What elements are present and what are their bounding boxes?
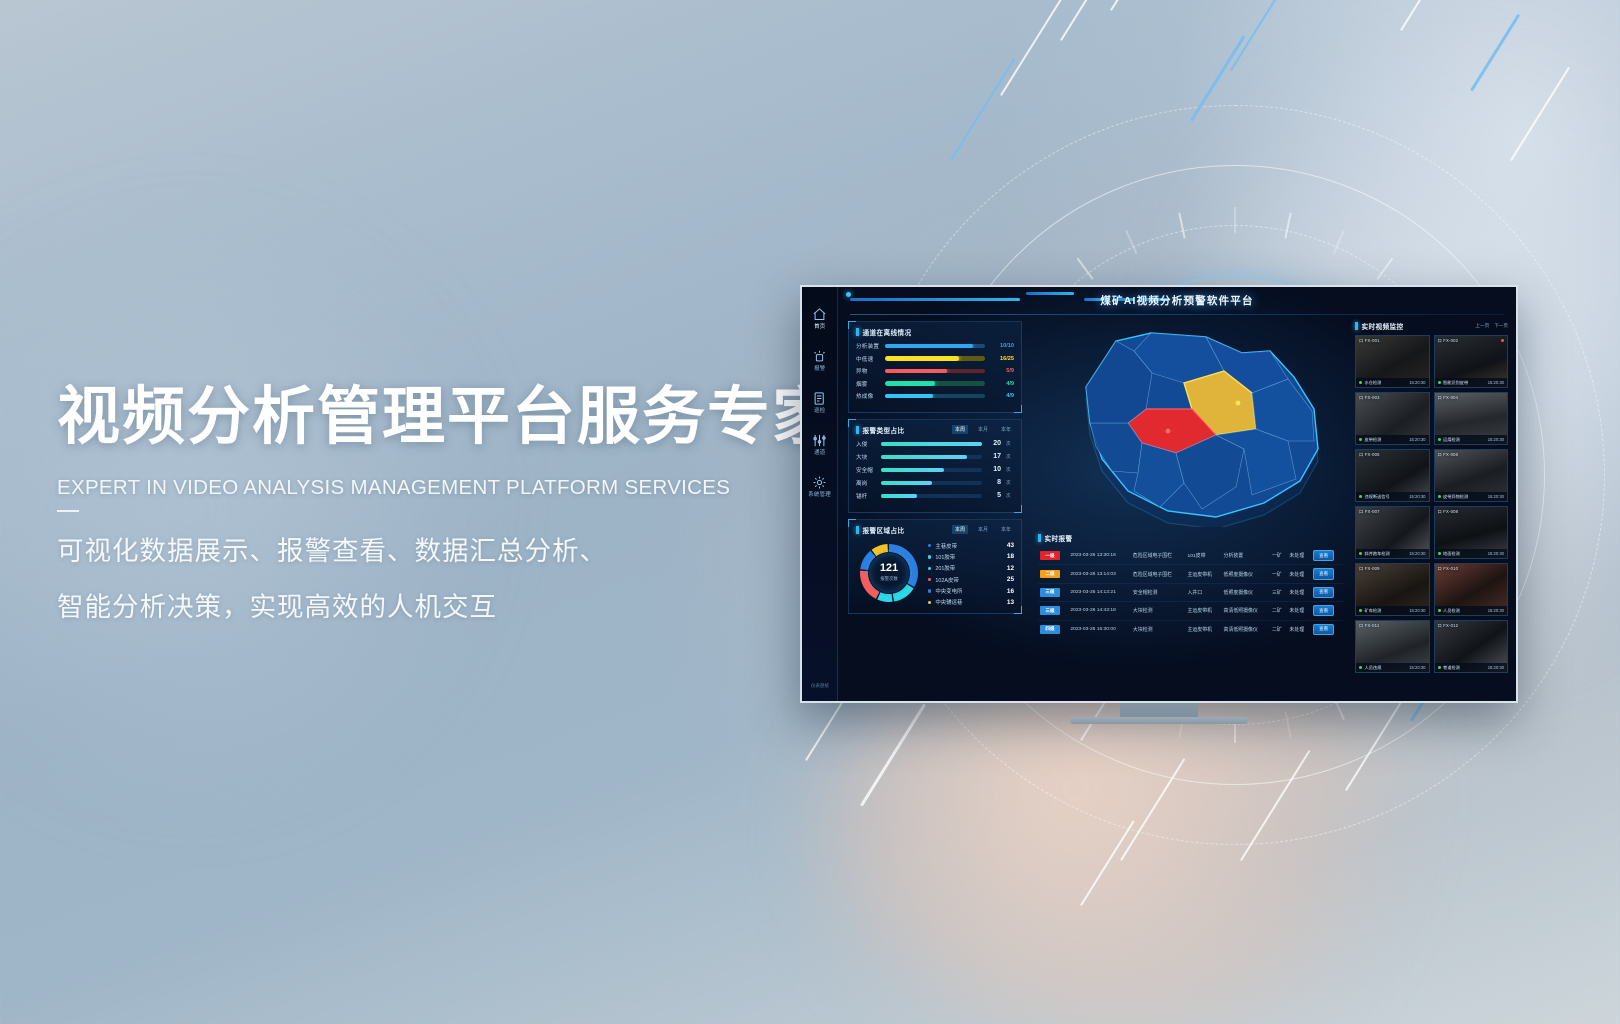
video-tile-time: 15:20:30: [1409, 608, 1425, 613]
video-tile[interactable]: 口 FX-004运煤检测15:20:30: [1434, 392, 1509, 445]
video-tile-name: 人员检测: [1438, 608, 1460, 614]
alarm-time: 2023-03-26 14:13:21: [1068, 583, 1131, 601]
alarm-type-tab[interactable]: 本月: [975, 425, 991, 434]
legend-name: 中央辅运巷: [935, 598, 1003, 606]
monitor-stand-base: [1070, 717, 1248, 724]
realtime-alarm-title: 实时报警: [1045, 533, 1073, 543]
alarm-area-tab[interactable]: 本月: [975, 525, 991, 534]
legend-name: 201胶带: [935, 564, 1003, 572]
channel-panel-title-wrap: 通道在离线情况: [856, 327, 911, 337]
legend-name: 主巷皮带: [935, 542, 1003, 550]
alarm-type-unit: 次: [1006, 493, 1014, 499]
alarm-area-tab[interactable]: 本周: [952, 525, 968, 534]
title-accent-bar: [856, 328, 859, 336]
alarm-status: 未处理: [1287, 547, 1311, 565]
alarm-type-track: [881, 481, 982, 485]
alarm-level-badge: 三级: [1038, 583, 1068, 601]
decorative-diagonal-line: [1000, 0, 1076, 96]
legend-color-dot: [928, 578, 931, 581]
legend-color-dot: [928, 555, 931, 558]
channel-status-row: 中低速16/25: [856, 355, 1014, 363]
video-tile-time: 15:20:30: [1409, 551, 1425, 556]
video-tile-name: 巷道检测: [1438, 665, 1460, 671]
video-tile[interactable]: 口 FX-008地面检测15:20:30: [1434, 506, 1509, 559]
video-column: 实时视频监控 上一页 下一页 口 FX-001水仓检测15:20:30口 FX-…: [1351, 317, 1516, 701]
alarm-type-fill: [881, 494, 917, 498]
alarm-type-track: [881, 494, 982, 498]
alarm-mine: 二矿: [1270, 620, 1287, 638]
channel-row-fill: [885, 394, 933, 399]
decorative-diagonal-line: [950, 58, 1015, 161]
channel-row-label: 烟雾: [856, 380, 880, 388]
video-camera-id: 口 FX-005: [1359, 452, 1380, 458]
video-tile[interactable]: 口 FX-006皮带异物检测15:20:30: [1434, 449, 1509, 502]
video-prev-page[interactable]: 上一页: [1475, 323, 1489, 329]
video-tile[interactable]: 口 FX-001水仓检测15:20:30: [1355, 335, 1430, 388]
alarm-type-tab[interactable]: 本年: [998, 425, 1014, 434]
alarm-type-row: 大块17次: [856, 453, 1014, 461]
alarm-action-button[interactable]: 查看: [1311, 583, 1343, 601]
sidebar-label-inspection: 巡检: [814, 407, 825, 414]
alarm-type-unit: 次: [1006, 467, 1014, 473]
channel-row-track: [885, 381, 985, 386]
alarm-area-donut: 121 报警次数: [856, 540, 922, 606]
decorative-diagonal-line: [1110, 0, 1212, 11]
donut-center: 121 报警次数: [869, 553, 909, 593]
alarm-level-badge: 二级: [1038, 565, 1068, 583]
alarm-type-row: 安全帽10次: [856, 466, 1014, 474]
ring-tick: [1284, 213, 1291, 239]
channel-row-value: 16/25: [990, 356, 1014, 362]
channel-row-value: 4/9: [990, 381, 1014, 387]
map-area: [1028, 317, 1351, 529]
video-tile-name: 智能识别皮带: [1438, 380, 1469, 386]
realtime-alarm-panel: 实时报警 一级2023-03-26 13:30:16危险区域电子围栏101皮带分…: [1028, 529, 1351, 701]
alarm-type-label: 入侵: [856, 440, 876, 448]
video-tile-name: 运煤检测: [1438, 437, 1460, 443]
alarm-type-fill: [881, 442, 982, 446]
sidebar-label-home: 首页: [814, 323, 825, 330]
alarm-type-panel: 报警类型占比 本周本月本年 入侵20次大块17次安全帽10次离岗8次锚杆5次: [848, 419, 1022, 513]
alarm-type: 危险区域电子围栏: [1131, 547, 1186, 565]
donut-legend-row: 101胶带18: [928, 553, 1014, 561]
video-camera-id: 口 FX-012: [1438, 623, 1459, 629]
legend-color-dot: [928, 567, 931, 570]
alarm-device: 分析装置: [1222, 547, 1270, 565]
video-tile-footer: 人员检测15:20:30: [1435, 606, 1508, 615]
alarm-area-tabs[interactable]: 本周本月本年: [952, 525, 1014, 534]
alarm-type-track: [881, 442, 982, 446]
video-tile-name: 皮带检测: [1359, 437, 1381, 443]
channel-row-value: 10/10: [990, 343, 1014, 349]
alarm-area: 主运皮带机: [1186, 565, 1222, 583]
video-tile-name: 皮带异物检测: [1438, 494, 1469, 500]
channel-panel-head: 通道在离线情况: [856, 327, 1014, 337]
legend-name: 101胶带: [935, 553, 1003, 561]
video-tile[interactable]: 口 FX-005违规断送信号15:20:30: [1355, 449, 1430, 502]
channel-status-row: 烟雾4/9: [856, 380, 1014, 388]
table-row: 四级2023-03-26 15:30:00大块检测主运皮带机高清低照摄像仪二矿未…: [1038, 620, 1343, 638]
video-camera-id: 口 FX-002: [1438, 338, 1459, 344]
alarm-status: 未处理: [1287, 583, 1311, 601]
video-grid: 口 FX-001水仓检测15:20:30口 FX-002智能识别皮带15:20:…: [1355, 335, 1508, 673]
channel-status-panel: 通道在离线情况 分析装置10/10中低速16/25异物5/9烟雾4/9热成像4/…: [848, 321, 1022, 413]
table-row: 三级2023-03-26 14:13:21安全帽检测入井口低照度摄像仪三矿未处理…: [1038, 583, 1343, 601]
video-panel-head: 实时视频监控 上一页 下一页: [1355, 321, 1508, 331]
video-tile-footer: 矿车检测15:20:30: [1356, 606, 1429, 615]
decorative-diagonal-line: [1345, 688, 1410, 791]
alarm-type-row: 锚杆5次: [856, 492, 1014, 500]
alarm-type-panel-head: 报警类型占比 本周本月本年: [856, 425, 1014, 435]
alarm-type: 大块检测: [1131, 602, 1186, 620]
sidebar-watermark: 仪表盘统: [811, 683, 829, 689]
header-hairline: [850, 314, 1504, 315]
decorative-diagonal-line: [860, 703, 926, 806]
channel-rows: 分析装置10/10中低速16/25异物5/9烟雾4/9热成像4/9: [856, 342, 1014, 400]
alarm-type-value: 20: [987, 440, 1001, 447]
alarm-action-button[interactable]: 查看: [1311, 547, 1343, 565]
video-tile-footer: 地面检测15:20:30: [1435, 549, 1508, 558]
video-tile-time: 15:20:30: [1409, 437, 1425, 442]
video-tile-time: 15:20:30: [1488, 665, 1504, 670]
sidebar-item-inspection[interactable]: 巡检: [812, 391, 827, 414]
channel-row-value: 5/9: [990, 368, 1014, 374]
alarm-type-label: 大块: [856, 453, 876, 461]
hero-subtitle-en: EXPERT IN VIDEO ANALYSIS MANAGEMENT PLAT…: [57, 476, 837, 500]
alarm-mine: 二矿: [1270, 602, 1287, 620]
alarm-level-badge: 三级: [1038, 602, 1068, 620]
dashboard-sidebar: 首页 报警 巡检 通道: [802, 287, 838, 701]
ring-tick: [1234, 207, 1236, 233]
center-column: 实时报警 一级2023-03-26 13:30:16危险区域电子围栏101皮带分…: [1028, 317, 1351, 701]
hero-line-2: 智能分析决策，实现高效的人机交互: [57, 585, 837, 624]
alarm-type-track: [881, 468, 982, 472]
video-tile-footer: 皮带检测15:20:30: [1356, 435, 1429, 444]
channel-row-label: 异物: [856, 367, 880, 375]
dashboard-title: 煤矿AI视频分析预警软件平台: [838, 293, 1516, 308]
donut-total: 121: [880, 563, 898, 574]
video-tile-time: 15:20:30: [1488, 608, 1504, 613]
video-tile-time: 15:20:30: [1488, 494, 1504, 499]
home-icon: [812, 307, 827, 322]
ring-tick: [1178, 213, 1185, 239]
video-camera-id: 口 FX-008: [1438, 509, 1459, 515]
alarm-device: 高清低照摄像仪: [1222, 620, 1270, 638]
donut-legend-row: 中央变电所16: [928, 587, 1014, 595]
donut-legend-row: 主巷皮带43: [928, 542, 1014, 550]
alarm-time: 2023-03-26 13:30:16: [1068, 547, 1131, 565]
video-tile[interactable]: 口 FX-010人员检测15:20:30: [1434, 563, 1509, 616]
alarm-status: 未处理: [1287, 565, 1311, 583]
sidebar-item-alarm[interactable]: 报警: [812, 349, 827, 372]
alarm-type-fill: [881, 468, 944, 472]
video-tile[interactable]: 口 FX-012巷道检测15:20:30: [1434, 620, 1509, 673]
decorative-diagonal-line: [1470, 14, 1520, 92]
video-tile-time: 15:20:30: [1409, 494, 1425, 499]
sidebar-label-channel: 通道: [814, 449, 825, 456]
alarm-time: 2023-03-26 15:30:00: [1068, 620, 1131, 638]
decorative-diagonal-line: [1060, 0, 1141, 41]
decorative-diagonal-line: [1080, 820, 1135, 906]
alarm-type-unit: 次: [1006, 480, 1014, 486]
alarm-type-value: 10: [987, 466, 1001, 473]
channel-panel-title: 通道在离线情况: [863, 327, 912, 337]
channel-row-track: [885, 369, 985, 374]
channel-row-label: 分析装置: [856, 342, 880, 350]
alarm-type-rows: 入侵20次大块17次安全帽10次离岗8次锚杆5次: [856, 440, 1014, 500]
alarm-area: 主运皮带机: [1186, 602, 1222, 620]
donut-legend: 主巷皮带43101胶带18201胶带12102A皮带25中央变电所16中央辅运巷…: [928, 540, 1014, 607]
legend-value: 18: [1007, 553, 1014, 560]
video-tile-time: 15:20:30: [1488, 380, 1504, 385]
channel-row-fill: [885, 369, 947, 374]
decorative-diagonal-line: [1510, 67, 1570, 161]
alarm-type-tab[interactable]: 本周: [952, 425, 968, 434]
alarm-type-tabs[interactable]: 本周本月本年: [952, 425, 1014, 434]
alarm-area: 主运皮带机: [1186, 620, 1222, 638]
video-tile[interactable]: 口 FX-003皮带检测15:20:30: [1355, 392, 1430, 445]
province-map[interactable]: [1050, 321, 1340, 527]
legend-color-dot: [928, 589, 931, 592]
alarm-icon: [812, 349, 827, 364]
donut-legend-row: 中央辅运巷13: [928, 598, 1014, 606]
alarm-area-title-wrap: 报警区域占比: [856, 525, 904, 535]
video-tile-footer: 巷道检测15:20:30: [1435, 663, 1508, 672]
alarm-action-button[interactable]: 查看: [1311, 565, 1343, 583]
video-camera-id: 口 FX-011: [1359, 623, 1379, 629]
alarm-status: 未处理: [1287, 602, 1311, 620]
title-accent-bar: [856, 426, 859, 434]
alarm-time: 2023-03-26 14:43:18: [1068, 602, 1131, 620]
sidebar-label-alarm: 报警: [814, 365, 825, 372]
gear-icon: [812, 475, 827, 490]
video-tile-time: 15:20:30: [1488, 551, 1504, 556]
legend-value: 13: [1007, 599, 1014, 606]
channel-row-fill: [885, 344, 973, 349]
realtime-alarm-table: 一级2023-03-26 13:30:16危险区域电子围栏101皮带分析装置一矿…: [1038, 547, 1343, 638]
channel-row-value: 4/9: [990, 393, 1014, 399]
sidebar-label-system: 系统管理: [808, 491, 831, 498]
video-pagination[interactable]: 上一页 下一页: [1475, 323, 1508, 329]
alarm-action-button[interactable]: 查看: [1311, 602, 1343, 620]
video-tile-footer: 水仓检测15:20:30: [1356, 378, 1429, 387]
video-tile-time: 15:20:30: [1409, 380, 1425, 385]
video-tile[interactable]: 口 FX-009矿车检测15:20:30: [1355, 563, 1430, 616]
alarm-type-panel-title: 报警类型占比: [863, 425, 905, 435]
video-tile-name: 地面检测: [1438, 551, 1460, 557]
alarm-area: 入井口: [1186, 583, 1222, 601]
alarm-mine: 一矿: [1270, 547, 1287, 565]
alarm-area-panel: 报警区域占比 本周本月本年 121 报警次数: [848, 519, 1022, 615]
video-tile-time: 15:20:30: [1488, 437, 1504, 442]
video-tile-name: 违规断送信号: [1359, 494, 1390, 500]
alarm-area-panel-head: 报警区域占比 本周本月本年: [856, 525, 1014, 535]
donut-segment[interactable]: [879, 596, 892, 598]
hero-line-1: 可视化数据展示、报警查看、数据汇总分析、: [57, 529, 837, 568]
decorative-diagonal-line: [1240, 750, 1311, 861]
legend-color-dot: [928, 601, 931, 604]
ring-tick: [1125, 230, 1137, 255]
table-row: 一级2023-03-26 13:30:16危险区域电子围栏101皮带分析装置一矿…: [1038, 547, 1343, 565]
channel-status-row: 异物5/9: [856, 367, 1014, 375]
title-accent-bar: [1038, 534, 1041, 542]
legend-value: 43: [1007, 542, 1014, 549]
decorative-diagonal-line: [1400, 0, 1471, 31]
alarm-type-fill: [881, 481, 932, 485]
alarm-type-title-wrap: 报警类型占比: [856, 425, 904, 435]
dashboard-main: 煤矿AI视频分析预警软件平台 通道在离线情况 分析装置10/10中低速16/25…: [838, 287, 1516, 701]
channel-row-track: [885, 344, 985, 349]
video-tile-name: 人员违规: [1359, 665, 1381, 671]
alarm-type-row: 入侵20次: [856, 440, 1014, 448]
legend-color-dot: [928, 544, 931, 547]
video-tile-name: 水仓检测: [1359, 380, 1381, 386]
channel-status-row: 热成像4/9: [856, 392, 1014, 400]
channel-row-track: [885, 394, 985, 399]
decorative-diagonal-line: [1190, 35, 1246, 121]
sidebar-item-home[interactable]: 首页: [812, 307, 827, 330]
title-accent-bar: [1355, 322, 1358, 330]
video-tile[interactable]: 口 FX-002智能识别皮带15:20:30: [1434, 335, 1509, 388]
ring-tick: [1077, 258, 1094, 280]
video-tile-footer: 运煤检测15:20:30: [1435, 435, 1508, 444]
monitor-bezel: 首页 报警 巡检 通道: [800, 285, 1518, 703]
alarm-type-value: 17: [987, 453, 1001, 460]
ring-tick: [1333, 230, 1345, 255]
alarm-device: 高清低照摄像仪: [1222, 602, 1270, 620]
channel-row-label: 中低速: [856, 355, 880, 363]
table-row: 二级2023-03-26 13:14:03危险区域电子围栏主运皮带机低照度摄像仪…: [1038, 565, 1343, 583]
video-tile-footer: 违规断送信号15:20:30: [1356, 492, 1429, 501]
video-next-page[interactable]: 下一页: [1494, 323, 1508, 329]
video-camera-id: 口 FX-004: [1438, 395, 1459, 401]
recording-indicator-icon: [1501, 339, 1504, 342]
channel-row-label: 热成像: [856, 392, 880, 400]
video-camera-id: 口 FX-009: [1359, 566, 1380, 572]
channel-row-fill: [885, 356, 959, 361]
decorative-diagonal-line: [1230, 0, 1295, 71]
donut-legend-row: 102A皮带25: [928, 576, 1014, 584]
realtime-alarm-title-wrap: 实时报警: [1038, 533, 1343, 543]
video-camera-id: 口 FX-007: [1359, 509, 1380, 515]
alarm-type-label: 安全帽: [856, 466, 876, 474]
hero-divider: [57, 510, 79, 512]
legend-value: 12: [1007, 565, 1014, 572]
alarm-mine: 一矿: [1270, 565, 1287, 583]
channel-icon: [812, 433, 827, 448]
alarm-type-unit: 次: [1006, 441, 1014, 447]
video-camera-id: 口 FX-001: [1359, 338, 1380, 344]
channel-status-row: 分析装置10/10: [856, 342, 1014, 350]
alarm-type-fill: [881, 455, 967, 459]
video-tile-footer: 皮带异物检测15:20:30: [1435, 492, 1508, 501]
alarm-type-label: 锚杆: [856, 492, 876, 500]
sidebar-item-system[interactable]: 系统管理: [810, 475, 829, 498]
video-panel-title: 实时视频监控: [1362, 321, 1404, 331]
donut-caption: 报警次数: [880, 576, 898, 582]
alarm-type: 安全帽检测: [1131, 583, 1186, 601]
channel-row-track: [885, 356, 985, 361]
donut-legend-row: 201胶带12: [928, 564, 1014, 572]
realtime-alarm-tbody: 一级2023-03-26 13:30:16危险区域电子围栏101皮带分析装置一矿…: [1038, 547, 1343, 638]
video-panel-title-wrap: 实时视频监控: [1355, 321, 1403, 331]
alarm-device: 低照度摄像仪: [1222, 583, 1270, 601]
video-camera-id: 口 FX-003: [1359, 395, 1380, 401]
alarm-area-panel-title: 报警区域占比: [863, 525, 905, 535]
alarm-status: 未处理: [1287, 620, 1311, 638]
left-stats-column: 通道在离线情况 分析装置10/10中低速16/25异物5/9烟雾4/9热成像4/…: [838, 317, 1028, 701]
channel-row-fill: [885, 381, 935, 386]
page-title: 视频分析管理平台服务专家: [57, 383, 837, 452]
alarm-area-tab[interactable]: 本年: [998, 525, 1014, 534]
alarm-type-track: [881, 455, 982, 459]
alarm-type-row: 离岗8次: [856, 479, 1014, 487]
video-camera-id: 口 FX-010: [1438, 566, 1459, 572]
alarm-time: 2023-03-26 13:14:03: [1068, 565, 1131, 583]
video-tile-footer: 人员违规15:20:30: [1356, 663, 1429, 672]
alarm-type-value: 8: [987, 479, 1001, 486]
alarm-type-label: 离岗: [856, 479, 876, 487]
dashboard-body: 通道在离线情况 分析装置10/10中低速16/25异物5/9烟雾4/9热成像4/…: [838, 317, 1516, 701]
alarm-type: 大块检测: [1131, 620, 1186, 638]
legend-value: 25: [1007, 576, 1014, 583]
video-tile-name: 矿车检测: [1359, 608, 1381, 614]
alarm-type-unit: 次: [1006, 454, 1014, 460]
video-tile-footer: 智能识别皮带15:20:30: [1435, 378, 1508, 387]
legend-name: 102A皮带: [935, 576, 1003, 584]
dashboard-screen: 首页 报警 巡检 通道: [802, 287, 1516, 701]
legend-value: 16: [1007, 588, 1014, 595]
video-tile-time: 15:20:30: [1409, 665, 1425, 670]
table-row: 三级2023-03-26 14:43:18大块检测主运皮带机高清低照摄像仪二矿未…: [1038, 602, 1343, 620]
title-accent-bar: [856, 526, 859, 534]
alarm-level-badge: 四级: [1038, 620, 1068, 638]
alarm-type-value: 5: [987, 492, 1001, 499]
sidebar-item-channel[interactable]: 通道: [812, 433, 827, 456]
ring-tick: [1376, 258, 1393, 280]
video-tile[interactable]: 口 FX-011人员违规15:20:30: [1355, 620, 1430, 673]
video-tile-name: 斜井跑车检测: [1359, 551, 1390, 557]
alarm-mine: 三矿: [1270, 583, 1287, 601]
alarm-device: 低照度摄像仪: [1222, 565, 1270, 583]
legend-name: 中央变电所: [935, 587, 1003, 595]
video-camera-id: 口 FX-006: [1438, 452, 1459, 458]
ring-tick: [1284, 712, 1291, 738]
alarm-action-button[interactable]: 查看: [1311, 620, 1343, 638]
video-tile[interactable]: 口 FX-007斜井跑车检测15:20:30: [1355, 506, 1430, 559]
decorative-diagonal-line: [1120, 758, 1185, 861]
video-tile-footer: 斜井跑车检测15:20:30: [1356, 549, 1429, 558]
donut-chart-wrap: 121 报警次数 主巷皮带43101胶带18201胶带12102A皮带25中央变…: [856, 540, 1014, 607]
inspection-icon: [812, 391, 827, 406]
hero-copy: 视频分析管理平台服务专家 EXPERT IN VIDEO ANALYSIS MA…: [57, 383, 837, 624]
alarm-type: 危险区域电子围栏: [1131, 565, 1186, 583]
alarm-area: 101皮带: [1186, 547, 1222, 565]
alarm-level-badge: 一级: [1038, 547, 1068, 565]
